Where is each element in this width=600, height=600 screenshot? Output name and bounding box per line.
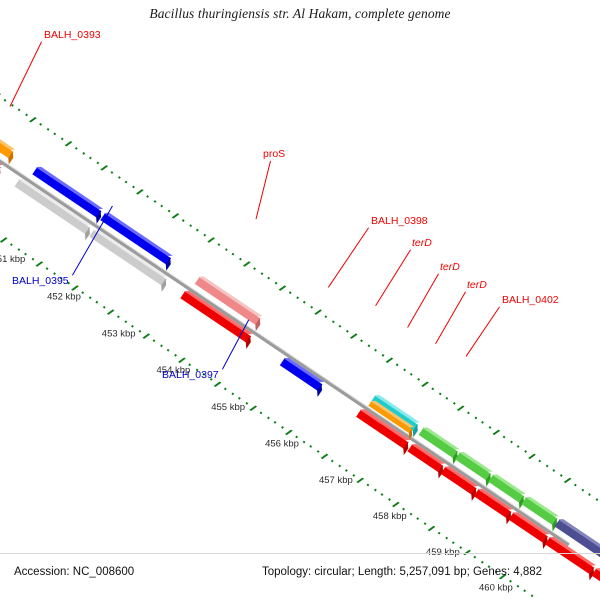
ruler-minor-tick	[289, 291, 292, 294]
sequence-backbone	[0, 118, 570, 546]
feature-label[interactable]: proS	[263, 148, 285, 160]
ruler-major-tick	[0, 93, 1, 98]
ruler-minor-tick	[439, 392, 442, 395]
ruler-major-tick	[136, 189, 144, 194]
ruler-minor-tick	[281, 426, 284, 429]
ruler-minor-tick	[332, 320, 335, 323]
ruler-minor-tick	[168, 210, 171, 213]
ruler-major-tick	[101, 165, 109, 170]
ruler-tick-label: 457 kbp	[319, 475, 353, 486]
status-bar: Accession: NC_008600 Topology: circular;…	[0, 566, 600, 586]
ruler-minor-tick	[510, 440, 513, 443]
ruler-minor-tick	[124, 320, 127, 323]
topology-text: Topology: circular; Length: 5,257,091 bp…	[262, 566, 542, 578]
ruler-minor-tick	[239, 258, 242, 261]
ruler-major-tick	[315, 310, 323, 315]
ruler-minor-tick	[274, 421, 277, 424]
ruler-tick-label: 452 kbp	[47, 291, 81, 302]
label-leader-line	[256, 161, 271, 219]
ruler-minor-tick	[225, 248, 228, 251]
ruler-major-tick	[493, 430, 501, 435]
label-leader-line	[375, 249, 411, 306]
ruler-tick-label: 453 kbp	[102, 328, 136, 339]
ruler-minor-tick	[111, 171, 114, 174]
ruler-major-tick	[143, 334, 151, 339]
ruler-minor-tick	[10, 243, 13, 246]
ruler-minor-tick	[474, 416, 477, 419]
ruler-minor-tick	[267, 277, 270, 280]
feature-label[interactable]: BALH_0397	[162, 369, 219, 381]
ruler-minor-tick	[588, 493, 591, 496]
ruler-minor-tick	[524, 450, 527, 453]
ruler-minor-tick	[452, 541, 455, 544]
ruler-minor-tick	[203, 234, 206, 237]
ruler-minor-tick	[82, 152, 85, 155]
ruler-minor-tick	[253, 267, 256, 270]
genome-track[interactable]: 451 kbp452 kbp453 kbp454 kbp455 kbp456 k…	[0, 118, 570, 543]
ruler-major-tick	[357, 478, 365, 483]
ruler-minor-tick	[417, 378, 420, 381]
ruler-major-tick	[457, 406, 465, 411]
ruler-minor-tick	[224, 387, 227, 390]
ruler-major-tick	[285, 430, 293, 435]
ruler-major-tick	[243, 261, 251, 266]
ruler-minor-tick	[553, 469, 556, 472]
ruler-minor-tick	[46, 128, 49, 131]
ruler-major-tick	[392, 502, 400, 507]
ruler-minor-tick	[381, 493, 384, 496]
ruler-minor-tick	[367, 344, 370, 347]
label-leader-line	[407, 274, 439, 328]
ruler-major-tick	[36, 261, 44, 266]
ruler-minor-tick	[260, 412, 263, 415]
ruler-minor-tick	[531, 594, 534, 597]
gene-feature[interactable]	[0, 137, 15, 158]
ruler-major-tick	[208, 237, 216, 242]
ruler-minor-tick	[403, 368, 406, 371]
ruler-minor-tick	[196, 229, 199, 232]
ruler-minor-tick	[338, 464, 341, 467]
ruler-minor-tick	[96, 161, 99, 164]
feature-label[interactable]: BALH_0398	[371, 215, 428, 227]
ruler-minor-tick	[317, 450, 320, 453]
ruler-minor-tick	[75, 147, 78, 150]
ruler-major-tick	[528, 454, 536, 459]
feature-label[interactable]: terD	[467, 279, 487, 291]
ruler-minor-tick	[167, 349, 170, 352]
ruler-major-tick	[107, 310, 115, 315]
ruler-minor-tick	[125, 181, 128, 184]
ruler-minor-tick	[46, 267, 49, 270]
ruler-minor-tick	[303, 301, 306, 304]
ruler-major-tick	[214, 382, 222, 387]
ruler-minor-tick	[467, 412, 470, 415]
ruler-minor-tick	[54, 133, 57, 136]
feature-label[interactable]: BALH_0402	[502, 294, 559, 306]
label-leader-line	[10, 42, 42, 107]
ruler-minor-tick	[61, 137, 64, 140]
ruler-minor-tick	[481, 421, 484, 424]
ruler-minor-tick	[346, 330, 349, 333]
ruler-minor-tick	[488, 426, 491, 429]
ruler-minor-tick	[523, 589, 526, 592]
ruler-minor-tick	[396, 363, 399, 366]
ruler-minor-tick	[595, 498, 598, 501]
ruler-minor-tick	[374, 349, 377, 352]
ruler-tick-label: 451 kbp	[0, 254, 25, 265]
ruler-minor-tick	[25, 113, 28, 116]
ruler-minor-tick	[545, 464, 548, 467]
ruler-minor-tick	[388, 498, 391, 501]
ruler-major-tick	[178, 358, 186, 363]
ruler-major-tick	[71, 286, 79, 291]
feature-label[interactable]: terD	[440, 261, 460, 273]
ruler-minor-tick	[153, 339, 156, 342]
ruler-minor-tick	[538, 460, 541, 463]
ruler-major-tick	[386, 358, 394, 363]
ruler-major-tick	[172, 213, 180, 218]
ruler-minor-tick	[260, 272, 263, 275]
ruler-major-tick	[29, 117, 37, 122]
ruler-minor-tick	[309, 445, 312, 448]
ruler-minor-tick	[360, 339, 363, 342]
ruler-minor-tick	[160, 205, 163, 208]
ruler-minor-tick	[503, 436, 506, 439]
ruler-major-tick	[564, 478, 572, 483]
label-leader-line	[328, 227, 369, 287]
ruler-minor-tick	[153, 200, 156, 203]
label-leader-line	[466, 306, 500, 356]
ruler-minor-tick	[103, 306, 106, 309]
ruler-minor-tick	[231, 392, 234, 395]
ruler-minor-tick	[189, 224, 192, 227]
genome-graphical-view: Bacillus thuringiensis str. Al Hakam, co…	[0, 0, 600, 600]
ruler-minor-tick	[431, 387, 434, 390]
ruler-major-tick	[279, 286, 287, 291]
ruler-major-tick	[350, 334, 358, 339]
accession-text: Accession: NC_008600	[14, 566, 134, 578]
ruler-bottom	[0, 169, 535, 600]
ruler-minor-tick	[424, 522, 427, 525]
ruler-major-tick	[321, 454, 329, 459]
ruler-minor-tick	[138, 330, 141, 333]
ruler-minor-tick	[410, 373, 413, 376]
ruler-minor-tick	[416, 517, 419, 520]
ruler-minor-tick	[117, 315, 120, 318]
ruler-minor-tick	[174, 354, 177, 357]
ruler-major-tick	[65, 141, 73, 146]
ruler-minor-tick	[275, 282, 278, 285]
feature-label[interactable]: terD	[412, 237, 432, 249]
ruler-minor-tick	[367, 484, 370, 487]
ruler-minor-tick	[445, 537, 448, 540]
ruler-minor-tick	[118, 176, 121, 179]
ruler-minor-tick	[4, 99, 7, 102]
ruler-minor-tick	[245, 402, 248, 405]
feature-label[interactable]: BALH_0395	[12, 275, 69, 287]
ruler-minor-tick	[296, 296, 299, 299]
ruler-tick-label: 458 kbp	[373, 511, 407, 522]
ruler-minor-tick	[238, 397, 241, 400]
ruler-tick-label: 455 kbp	[211, 402, 245, 413]
ruler-minor-tick	[446, 397, 449, 400]
ruler-minor-tick	[31, 258, 34, 261]
ruler-minor-tick	[517, 445, 520, 448]
footer-divider	[0, 553, 600, 554]
ruler-major-tick	[428, 526, 436, 531]
ruler-minor-tick	[232, 253, 235, 256]
ruler-minor-tick	[345, 469, 348, 472]
ruler-minor-tick	[88, 296, 91, 299]
ruler-minor-tick	[302, 440, 305, 443]
ruler-minor-tick	[17, 248, 20, 251]
ruler-minor-tick	[96, 301, 99, 304]
ruler-minor-tick	[574, 484, 577, 487]
ruler-minor-tick	[89, 157, 92, 160]
ruler-minor-tick	[331, 460, 334, 463]
ruler-minor-tick	[18, 109, 21, 112]
ruler-minor-tick	[146, 195, 149, 198]
ruler-minor-tick	[339, 325, 342, 328]
genes-layer	[0, 118, 570, 543]
ruler-major-tick	[422, 382, 430, 387]
label-leader-line	[435, 292, 466, 344]
ruler-minor-tick	[560, 474, 563, 477]
ruler-minor-tick	[39, 123, 42, 126]
ruler-minor-tick	[81, 291, 84, 294]
ruler-minor-tick	[310, 306, 313, 309]
ruler-minor-tick	[453, 402, 456, 405]
ruler-minor-tick	[160, 344, 163, 347]
ruler-minor-tick	[324, 315, 327, 318]
ruler-minor-tick	[409, 512, 412, 515]
ruler-minor-tick	[132, 185, 135, 188]
ruler-minor-tick	[473, 556, 476, 559]
ruler-minor-tick	[402, 508, 405, 511]
ruler-major-tick	[250, 406, 258, 411]
ruler-minor-tick	[381, 354, 384, 357]
ruler-minor-tick	[438, 532, 441, 535]
ruler-major-tick	[0, 237, 8, 242]
ruler-minor-tick	[267, 416, 270, 419]
ruler-minor-tick	[374, 488, 377, 491]
ruler-minor-tick	[217, 243, 220, 246]
page-title: Bacillus thuringiensis str. Al Hakam, co…	[0, 6, 600, 22]
ruler-tick-label: 456 kbp	[265, 438, 299, 449]
feature-label[interactable]: BALH_0393	[44, 29, 101, 41]
ruler-minor-tick	[182, 219, 185, 222]
ruler-minor-tick	[581, 488, 584, 491]
ruler-minor-tick	[481, 561, 484, 564]
